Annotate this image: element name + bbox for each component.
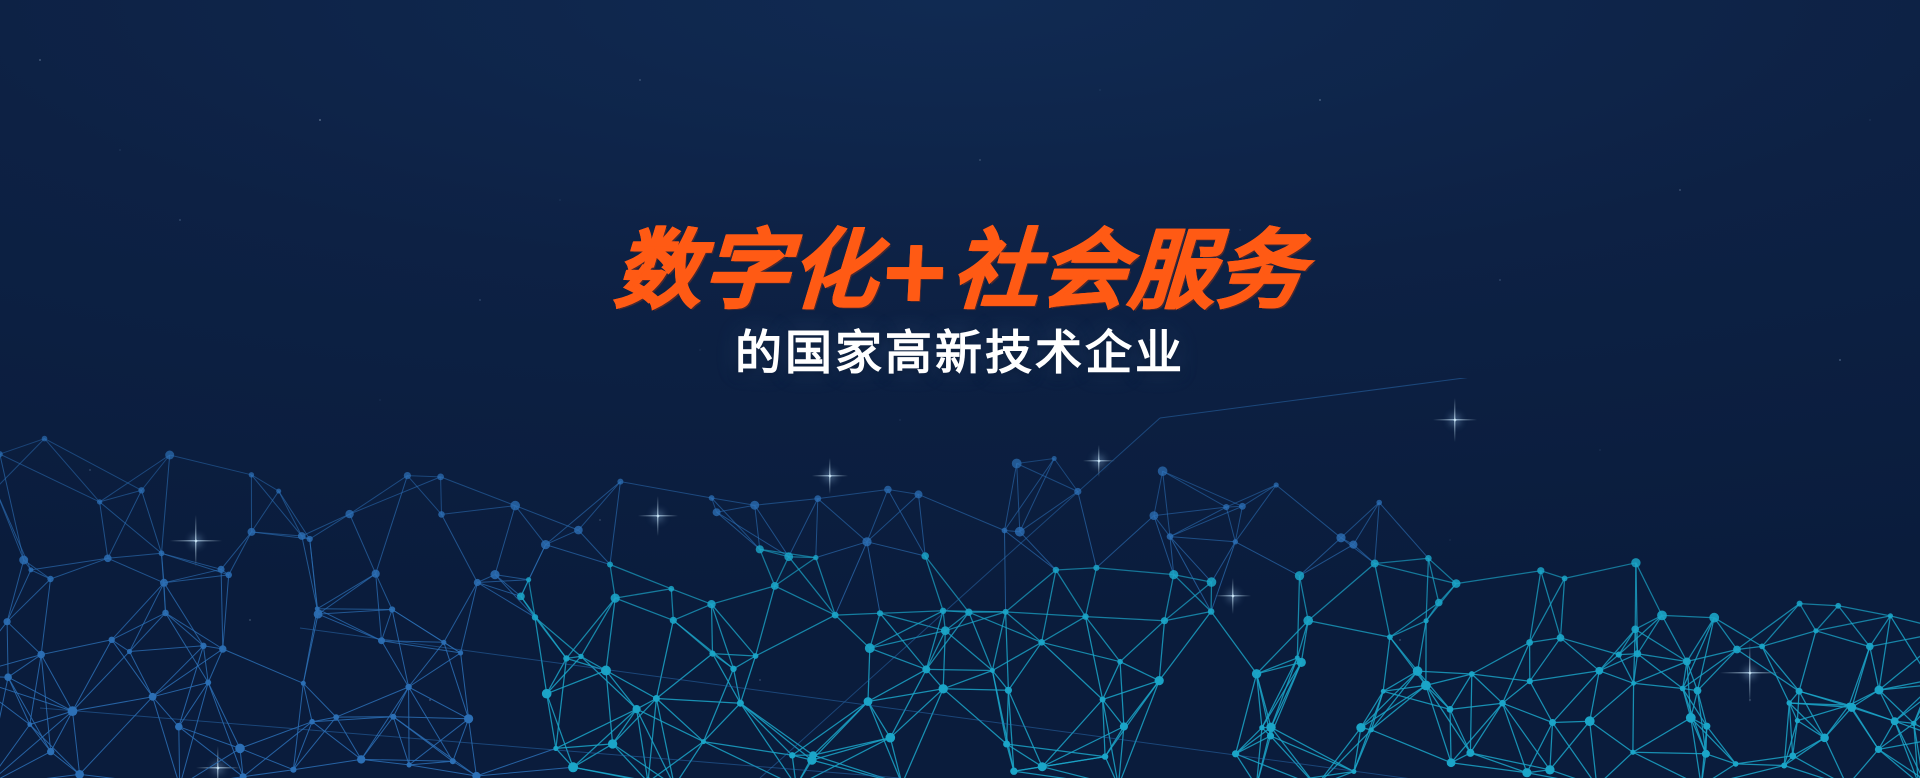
mesh-node <box>568 762 578 772</box>
star-field-dim <box>0 0 1920 778</box>
mesh-node <box>464 714 473 723</box>
mesh-node <box>1631 558 1640 567</box>
mesh-node <box>472 772 480 778</box>
mesh-node <box>1387 634 1393 640</box>
mesh-node <box>1266 723 1275 732</box>
mesh-node <box>1435 599 1443 607</box>
mesh-node <box>915 490 923 498</box>
mesh-node <box>1005 687 1012 694</box>
mesh-node <box>1150 511 1159 520</box>
mesh-node <box>1015 527 1025 537</box>
mesh-edges <box>0 378 1920 778</box>
mesh-node <box>601 666 611 676</box>
mesh-node <box>709 651 715 657</box>
mesh-node <box>333 714 339 720</box>
mesh-node <box>160 579 168 587</box>
mesh-node <box>1537 567 1544 574</box>
mesh-node <box>162 610 169 617</box>
mesh-node <box>4 618 11 625</box>
mesh-node <box>886 733 896 743</box>
mesh-node <box>27 722 32 727</box>
mesh-node <box>1349 541 1357 549</box>
mesh-node <box>653 695 660 702</box>
mesh-node <box>1875 746 1882 753</box>
mesh-node <box>438 511 445 518</box>
mesh-node <box>1657 611 1667 621</box>
mesh-node <box>1631 681 1636 686</box>
mesh-node <box>474 579 481 586</box>
mesh-node <box>940 608 946 614</box>
mesh-node <box>784 552 793 561</box>
mesh-node <box>240 773 247 778</box>
mesh-node <box>127 649 132 654</box>
mesh-node <box>701 739 706 744</box>
mesh-node <box>1413 666 1423 676</box>
mesh-node <box>1239 503 1246 510</box>
mesh-node <box>235 744 245 754</box>
mesh-node <box>47 576 53 582</box>
mesh-node <box>756 545 764 553</box>
mesh-node <box>104 555 112 563</box>
mesh-node <box>541 540 550 549</box>
mesh-node <box>1847 703 1856 712</box>
mesh-node <box>1703 723 1710 730</box>
mesh-node <box>1002 528 1008 534</box>
mesh-node <box>1686 713 1696 723</box>
mesh-node <box>1223 504 1229 510</box>
mesh-node <box>1038 762 1047 771</box>
mesh-node <box>1376 500 1382 506</box>
mesh-node <box>405 684 411 690</box>
mesh-node <box>1630 750 1635 755</box>
mesh-node <box>1351 769 1356 774</box>
mesh-node <box>345 510 353 518</box>
mesh-node <box>670 617 677 624</box>
mesh-node <box>1616 652 1622 658</box>
mesh-node <box>1447 706 1454 713</box>
mesh-node <box>450 758 456 764</box>
mesh-node <box>1526 639 1533 646</box>
mesh-node <box>1709 613 1719 623</box>
mesh-node <box>159 550 165 556</box>
hero-banner: 数字化+社会服务 的国家高新技术企业 <box>0 0 1920 778</box>
mesh-node <box>877 610 883 616</box>
mesh-node <box>1038 639 1045 646</box>
mesh-node <box>389 606 395 612</box>
mesh-node <box>884 486 892 494</box>
mesh-node <box>864 697 873 706</box>
mesh-node <box>1557 634 1565 642</box>
mesh-node <box>225 572 232 579</box>
mesh-node <box>1120 722 1128 730</box>
mesh-node <box>1585 716 1595 726</box>
mesh-node <box>510 501 520 511</box>
mesh-node <box>1522 768 1531 777</box>
mesh-node <box>1466 749 1474 757</box>
mesh-node <box>1010 768 1017 775</box>
mesh-node <box>865 643 875 653</box>
mesh-node <box>1452 579 1461 588</box>
mesh-node <box>1796 688 1803 695</box>
mesh-node <box>75 770 84 778</box>
mesh-node <box>490 570 499 579</box>
mesh-node <box>1167 533 1174 540</box>
mesh-node <box>1297 658 1306 667</box>
mesh-node <box>249 472 254 477</box>
mesh-node <box>1813 628 1818 633</box>
mesh-node <box>1082 613 1088 619</box>
mesh-node <box>737 700 744 707</box>
mesh-node <box>1295 655 1300 660</box>
mesh-node <box>1381 689 1386 694</box>
mesh-node <box>1866 643 1874 651</box>
mesh-node <box>1469 671 1475 677</box>
mesh-node <box>165 451 174 460</box>
mesh-node <box>37 651 45 659</box>
mesh-node <box>437 474 444 481</box>
mesh-node <box>1208 608 1215 615</box>
mesh-node <box>1545 765 1554 774</box>
mesh-node <box>1499 700 1506 707</box>
mesh-node <box>1595 667 1603 675</box>
mesh-node <box>709 495 715 501</box>
mesh-node <box>553 746 558 751</box>
mesh-node <box>1003 741 1010 748</box>
mesh-node <box>1680 686 1686 692</box>
mesh-node <box>1891 717 1899 725</box>
mesh-node <box>68 706 78 716</box>
mesh-node <box>357 755 365 763</box>
mesh-node <box>542 689 552 699</box>
mesh-node <box>200 643 206 649</box>
mesh-node <box>404 472 411 479</box>
mesh-node <box>314 610 323 619</box>
mesh-node <box>1425 555 1432 562</box>
mesh-node <box>730 666 736 672</box>
mesh-node <box>1847 703 1852 708</box>
mesh-node <box>1252 669 1261 678</box>
mesh-node <box>1155 676 1164 685</box>
mesh-node <box>707 600 715 608</box>
mesh-node <box>4 673 12 681</box>
mesh-node <box>1161 617 1168 624</box>
mesh-node <box>753 653 759 659</box>
mesh-node <box>0 451 3 457</box>
mesh-node <box>1274 482 1279 487</box>
mesh-node <box>1100 697 1106 703</box>
mesh-node <box>713 508 721 516</box>
mesh-node <box>1232 750 1239 757</box>
mesh-node <box>1267 732 1274 739</box>
mesh-node <box>1003 609 1009 615</box>
mesh-node <box>608 739 617 748</box>
mesh-node <box>1336 533 1345 542</box>
mesh-node <box>1911 721 1916 726</box>
mesh-node <box>1356 723 1365 732</box>
mesh-node <box>28 567 33 572</box>
mesh-node <box>1259 725 1264 730</box>
mesh-node <box>939 684 948 693</box>
mesh-node <box>814 495 821 502</box>
mesh-node <box>1117 659 1123 665</box>
mesh-node <box>1053 567 1059 573</box>
mesh-node <box>965 609 972 616</box>
mesh-node <box>611 594 620 603</box>
mesh-node <box>1634 650 1641 657</box>
mesh-node <box>109 637 115 643</box>
mesh-node <box>458 650 463 655</box>
page-subtitle: 的国家高新技术企业 <box>0 328 1920 380</box>
mesh-node <box>532 614 538 620</box>
mesh-node <box>1369 727 1374 732</box>
mesh-node <box>750 501 759 510</box>
mesh-node <box>1549 719 1556 726</box>
mesh-node <box>526 577 531 582</box>
mesh-node <box>1797 601 1803 607</box>
mesh-node <box>789 752 795 758</box>
mesh-nodes <box>0 436 1920 778</box>
mesh-node <box>807 755 816 764</box>
mesh-node <box>1562 576 1568 582</box>
mesh-node <box>378 637 385 644</box>
mesh-node <box>1631 626 1639 634</box>
mesh-node <box>218 566 225 573</box>
mesh-node <box>298 532 306 540</box>
mesh-node <box>941 626 950 635</box>
mesh-node <box>219 645 226 652</box>
mesh-node <box>205 680 211 686</box>
mesh-node <box>517 593 525 601</box>
mesh-node <box>1875 686 1884 695</box>
mesh-node <box>921 552 929 560</box>
mesh-node <box>668 586 674 592</box>
mesh-node <box>315 606 320 611</box>
mesh-node <box>97 499 102 504</box>
star-field-fine <box>0 0 1920 778</box>
mesh-node <box>1303 616 1313 626</box>
mesh-node <box>441 640 446 645</box>
mesh-node <box>390 714 396 720</box>
mesh-node <box>607 562 613 568</box>
mesh-node <box>42 436 48 442</box>
mesh-node <box>1093 565 1099 571</box>
mesh-node <box>1207 577 1217 587</box>
mesh-node <box>1012 459 1022 469</box>
mesh-node <box>1169 570 1178 579</box>
page-title: 数字化+社会服务 <box>0 228 1920 314</box>
mesh-node <box>372 570 380 578</box>
mesh-node <box>1424 618 1429 623</box>
mesh-node <box>578 654 583 659</box>
mesh-node <box>1733 761 1739 767</box>
mesh-node <box>633 705 641 713</box>
mesh-node <box>574 526 583 535</box>
mesh-node <box>862 537 871 546</box>
mesh-node <box>1295 571 1304 580</box>
mesh-node <box>1835 603 1841 609</box>
mesh-node <box>1781 763 1787 769</box>
mesh-node <box>1888 613 1893 618</box>
mesh-node <box>990 668 995 673</box>
mesh-node <box>307 536 313 542</box>
mesh-node <box>1371 560 1379 568</box>
mesh-node <box>1795 718 1800 723</box>
mesh-node <box>175 723 183 731</box>
mesh-node <box>1683 658 1691 666</box>
mesh-node <box>1052 456 1057 461</box>
mesh-node <box>1527 678 1533 684</box>
mesh-node <box>1102 753 1108 759</box>
mesh-node <box>922 665 930 673</box>
mesh-node <box>1421 681 1431 691</box>
mesh-node <box>301 681 306 686</box>
mesh-node <box>1820 734 1829 743</box>
mesh-node <box>1789 752 1796 759</box>
hero-text-block: 数字化+社会服务 的国家高新技术企业 <box>0 228 1920 380</box>
mesh-node <box>47 748 54 755</box>
mesh-node <box>149 693 157 701</box>
mesh-node <box>309 719 315 725</box>
mesh-node <box>809 751 817 759</box>
mesh-node <box>407 762 412 767</box>
mesh-node <box>617 479 623 485</box>
mesh-node <box>1787 700 1793 706</box>
mesh-node <box>771 582 779 590</box>
mesh-node <box>248 528 256 536</box>
mesh-node <box>1702 750 1710 758</box>
mesh-node <box>290 767 296 773</box>
mesh-node <box>1447 758 1456 767</box>
mesh-node <box>563 655 569 661</box>
mesh-node <box>1694 687 1702 695</box>
mesh-node <box>1233 539 1238 544</box>
mesh-node <box>1158 466 1168 476</box>
mesh-node <box>19 556 28 565</box>
network-mesh <box>0 378 1920 778</box>
mesh-node <box>1759 644 1765 650</box>
mesh-node <box>276 489 281 494</box>
mesh-node <box>813 555 818 560</box>
mesh-node <box>1074 488 1081 495</box>
mesh-node <box>138 487 144 493</box>
mesh-node <box>1733 646 1741 654</box>
mesh-node <box>832 612 839 619</box>
